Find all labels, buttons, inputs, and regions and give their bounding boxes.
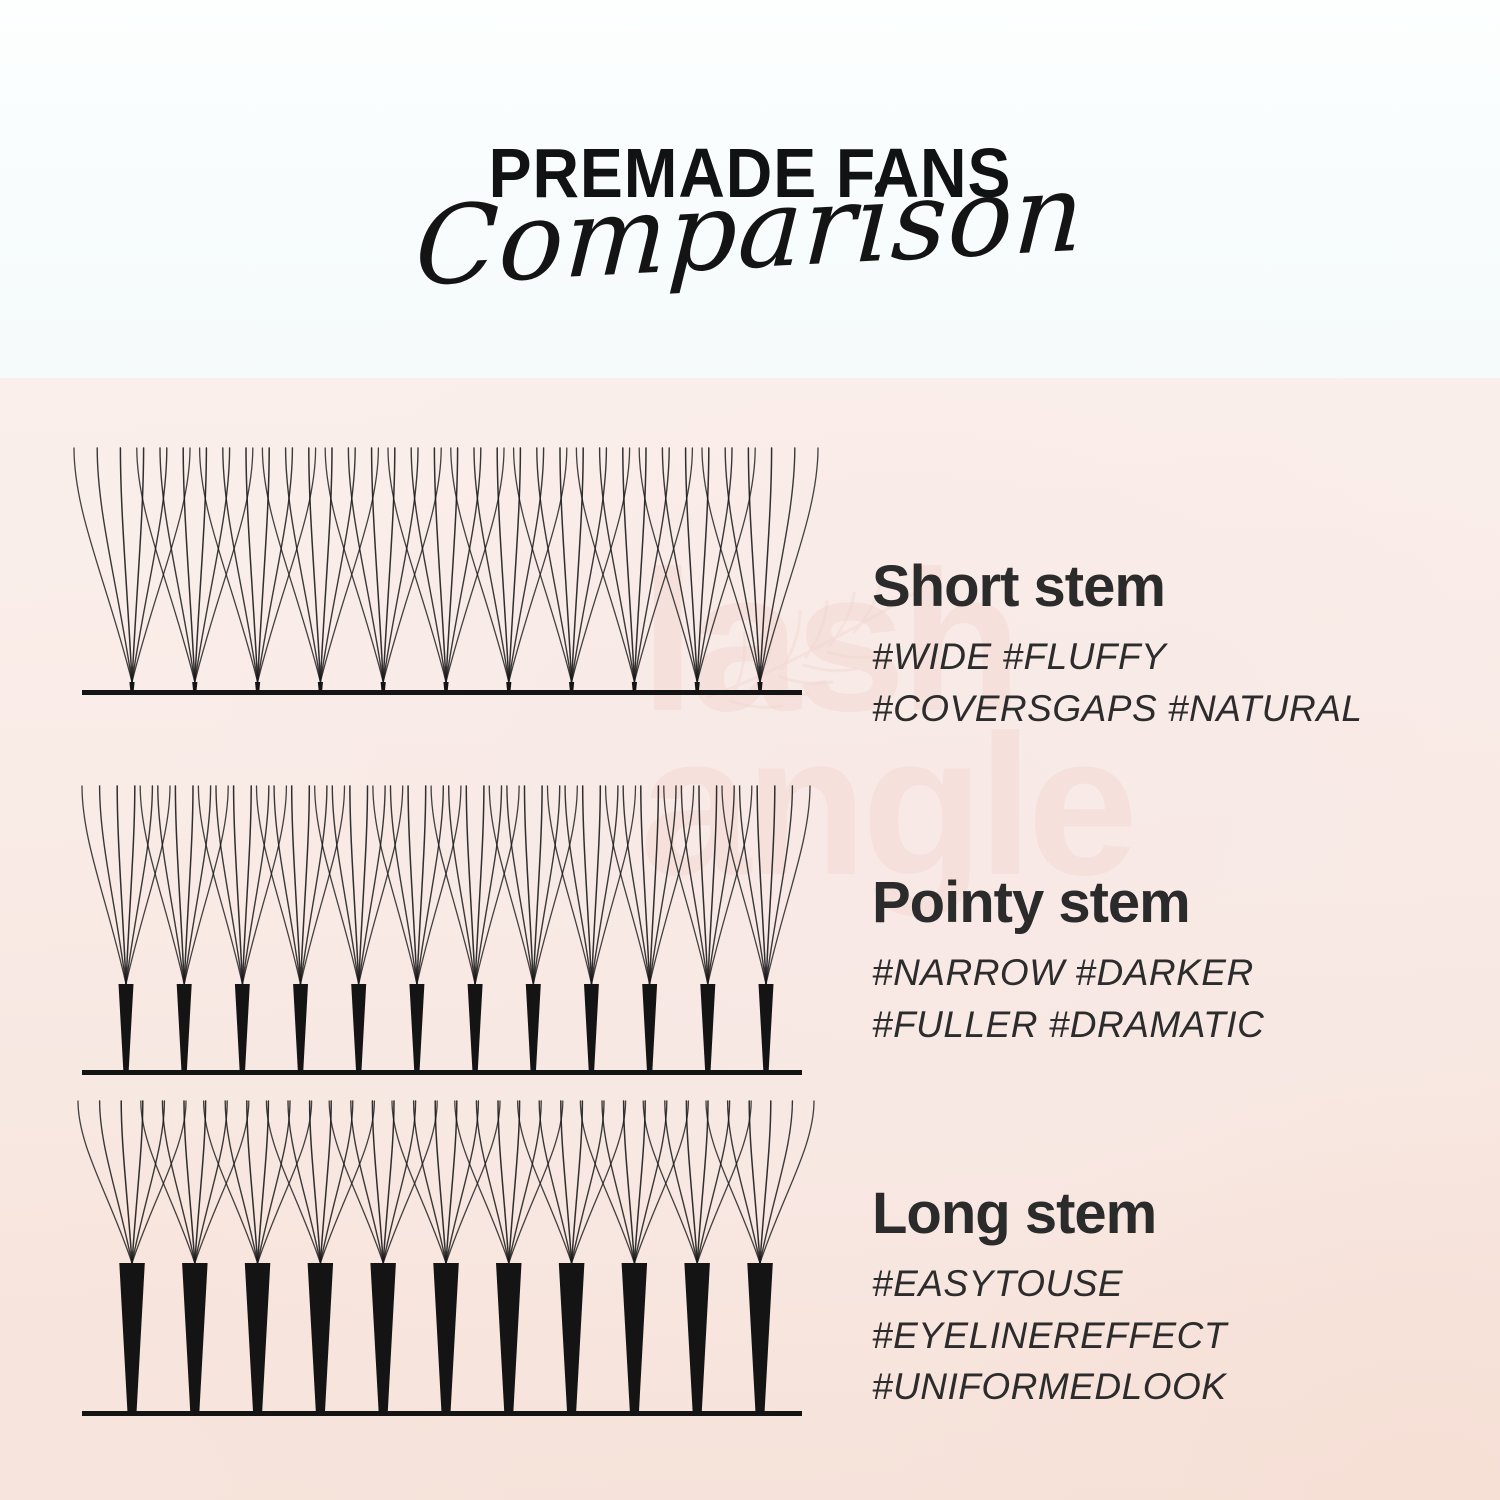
tag-line: #NARROW #DARKER <box>872 947 1432 998</box>
tag-line: #WIDE #FLUFFY <box>872 631 1432 682</box>
section-short-stem: Short stem #WIDE #FLUFFY #COVERSGAPS #NA… <box>0 438 1500 778</box>
short-stem-tags: #WIDE #FLUFFY #COVERSGAPS #NATURAL <box>872 631 1432 733</box>
short-stem-copy: Short stem #WIDE #FLUFFY #COVERSGAPS #NA… <box>872 556 1432 734</box>
comparison-rows: Short stem #WIDE #FLUFFY #COVERSGAPS #NA… <box>0 378 1500 1500</box>
baseline-rule <box>82 690 802 695</box>
tag-line: #COVERSGAPS #NATURAL <box>872 683 1432 734</box>
infographic-canvas: lash angle PREMADE FANS Comparison <box>0 0 1500 1500</box>
baseline-rule <box>82 1070 802 1075</box>
long-stem-fan-diagram <box>60 1093 820 1463</box>
pointy-stem-copy: Pointy stem #NARROW #DARKER #FULLER #DRA… <box>872 872 1432 1050</box>
pointy-stem-fan-diagram <box>60 778 820 1108</box>
pointy-stem-heading: Pointy stem <box>872 872 1432 933</box>
short-stem-heading: Short stem <box>872 556 1432 617</box>
tag-line: #EYELINEREFFECT <box>872 1310 1432 1361</box>
baseline-rule <box>82 1411 802 1416</box>
section-pointy-stem: Pointy stem #NARROW #DARKER #FULLER #DRA… <box>0 778 1500 1108</box>
tag-line: #EASYTOUSE <box>872 1258 1432 1309</box>
short-stem-fan-diagram <box>60 438 820 778</box>
pointy-stem-tags: #NARROW #DARKER #FULLER #DRAMATIC <box>872 947 1432 1049</box>
long-stem-tags: #EASYTOUSE #EYELINEREFFECT #UNIFORMEDLOO… <box>872 1258 1432 1411</box>
long-stem-copy: Long stem #EASYTOUSE #EYELINEREFFECT #UN… <box>872 1183 1432 1412</box>
tag-line: #FULLER #DRAMATIC <box>872 999 1432 1050</box>
long-stem-heading: Long stem <box>872 1183 1432 1244</box>
tag-line: #UNIFORMEDLOOK <box>872 1361 1432 1412</box>
section-long-stem: Long stem #EASYTOUSE #EYELINEREFFECT #UN… <box>0 1093 1500 1463</box>
